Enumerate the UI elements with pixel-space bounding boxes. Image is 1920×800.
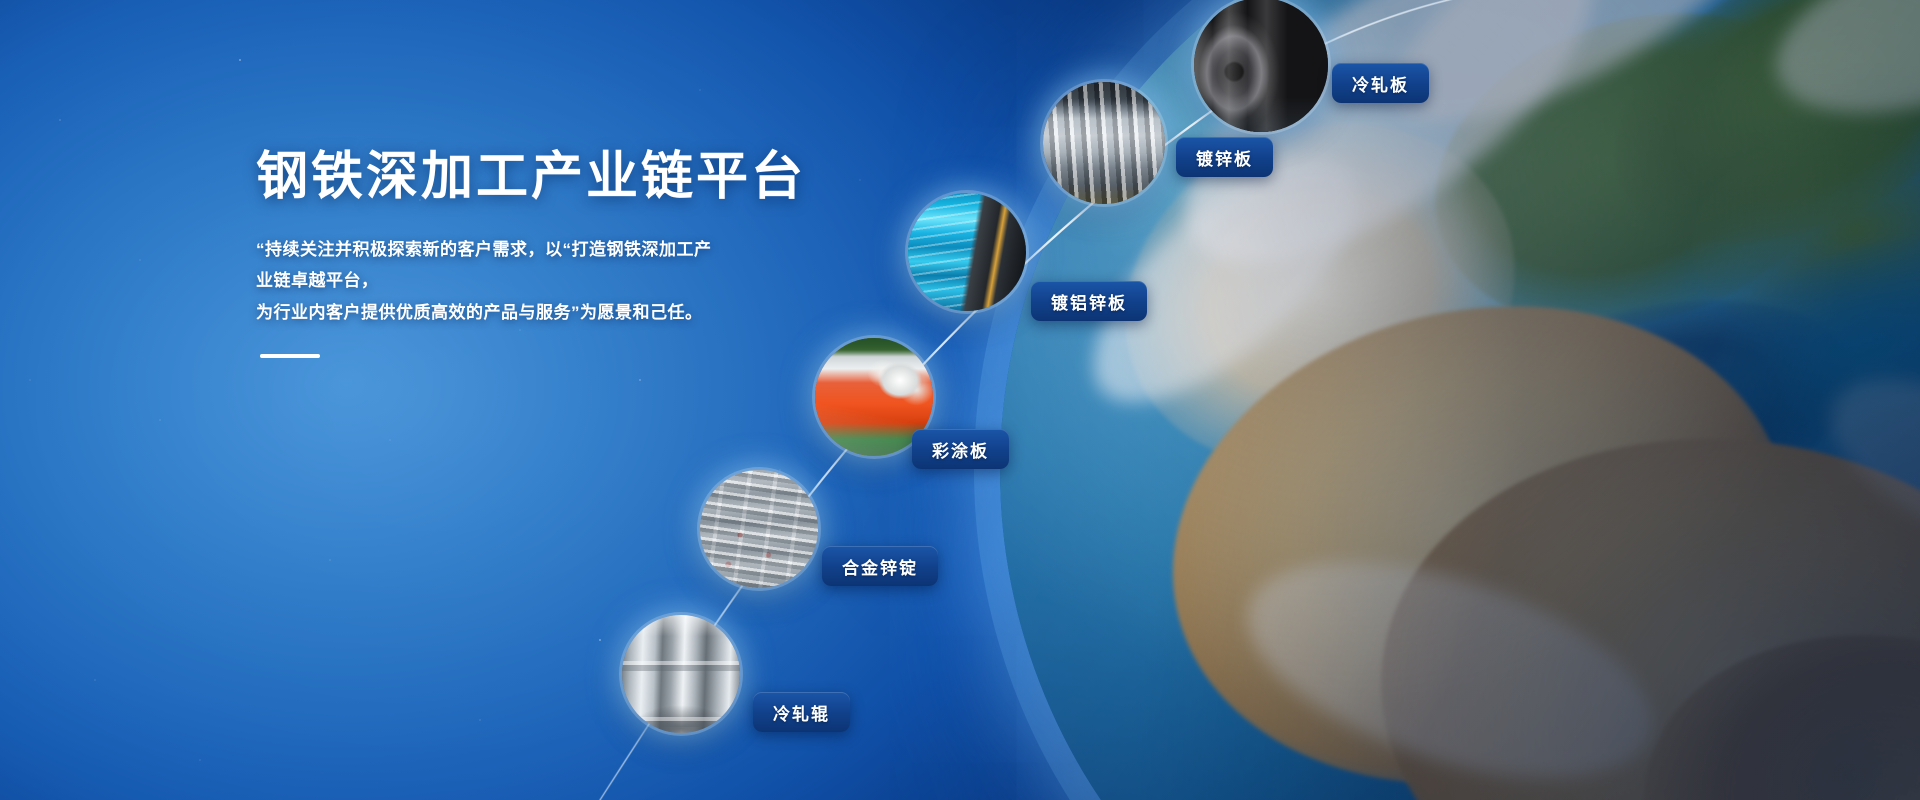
product-label-alloy-zinc-ingot[interactable]: 合金锌锭 (822, 546, 938, 586)
product-label-cold-rolling-roller[interactable]: 冷轧辊 (753, 692, 850, 732)
product-label-aluzinc-plate[interactable]: 镀铝锌板 (1031, 281, 1147, 321)
product-label-galvanized-plate[interactable]: 镀锌板 (1176, 137, 1273, 177)
title-underline-rule (260, 354, 320, 358)
hero-subtitle-line-2: 为行业内客户提供优质高效的产品与服务”为愿景和己任。 (256, 297, 716, 328)
product-image-cyan-coil-line[interactable] (908, 193, 1026, 311)
hero-subtitle: “持续关注并积极探索新的客户需求，以“打造钢铁深加工产业链卓越平台， 为行业内客… (256, 234, 716, 328)
hero-subtitle-line-1: “持续关注并积极探索新的客户需求，以“打造钢铁深加工产业链卓越平台， (256, 234, 716, 297)
cyan-coil-line-photo (908, 193, 1026, 311)
steel-coils-photo (1194, 0, 1328, 132)
product-image-coil-warehouse[interactable] (1043, 82, 1165, 204)
zinc-ingots-photo (700, 470, 818, 588)
hero-banner: 钢铁深加工产业链平台 “持续关注并积极探索新的客户需求，以“打造钢铁深加工产业链… (0, 0, 1920, 800)
product-image-zinc-ingots[interactable] (700, 470, 818, 588)
product-label-color-coated-plate[interactable]: 彩涂板 (912, 429, 1009, 469)
coil-warehouse-photo (1043, 82, 1165, 204)
polished-rollers-photo (622, 615, 740, 733)
hero-copy-block: 钢铁深加工产业链平台 “持续关注并积极探索新的客户需求，以“打造钢铁深加工产业链… (256, 148, 896, 358)
product-label-cold-rolled-plate[interactable]: 冷轧板 (1332, 63, 1429, 103)
product-image-steel-coils[interactable] (1194, 0, 1328, 132)
product-image-polished-rollers[interactable] (622, 615, 740, 733)
page-title: 钢铁深加工产业链平台 (256, 148, 896, 208)
